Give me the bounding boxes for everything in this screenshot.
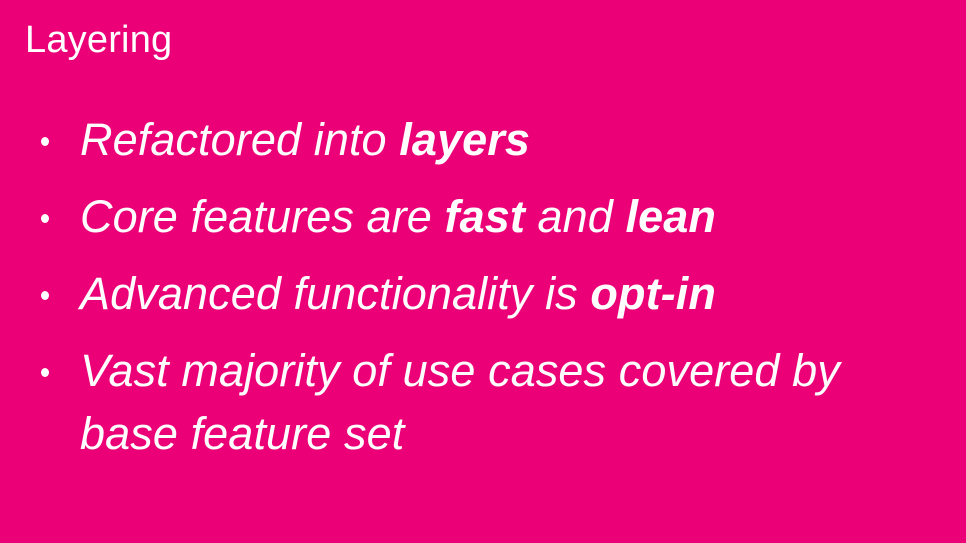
- emphasis-text: layers: [399, 114, 530, 165]
- list-item: Vast majority of use cases covered by ba…: [0, 339, 966, 465]
- bullet-dot-icon: [41, 137, 49, 146]
- list-item: Core features are fast and lean: [0, 185, 966, 248]
- list-item: Refactored into layers: [0, 108, 966, 171]
- plain-text: and: [525, 191, 626, 242]
- plain-text: Core features are: [80, 191, 444, 242]
- plain-text: Advanced functionality is: [80, 268, 590, 319]
- page-title: Layering: [25, 18, 172, 62]
- presentation-slide: Layering Refactored into layersCore feat…: [0, 0, 966, 543]
- list-item-label: Refactored into layers: [80, 108, 866, 171]
- emphasis-text: fast: [444, 191, 524, 242]
- list-item-label: Vast majority of use cases covered by ba…: [80, 339, 866, 465]
- bullet-list: Refactored into layersCore features are …: [0, 108, 966, 465]
- plain-text: Refactored into: [80, 114, 399, 165]
- plain-text: Vast majority of use cases covered by ba…: [80, 345, 840, 459]
- list-item: Advanced functionality is opt-in: [0, 262, 966, 325]
- bullet-dot-icon: [41, 291, 49, 300]
- emphasis-text: lean: [626, 191, 716, 242]
- bullet-dot-icon: [41, 368, 49, 377]
- list-item-label: Advanced functionality is opt-in: [80, 262, 866, 325]
- bullet-dot-icon: [41, 214, 49, 223]
- emphasis-text: opt-in: [590, 268, 716, 319]
- list-item-label: Core features are fast and lean: [80, 185, 866, 248]
